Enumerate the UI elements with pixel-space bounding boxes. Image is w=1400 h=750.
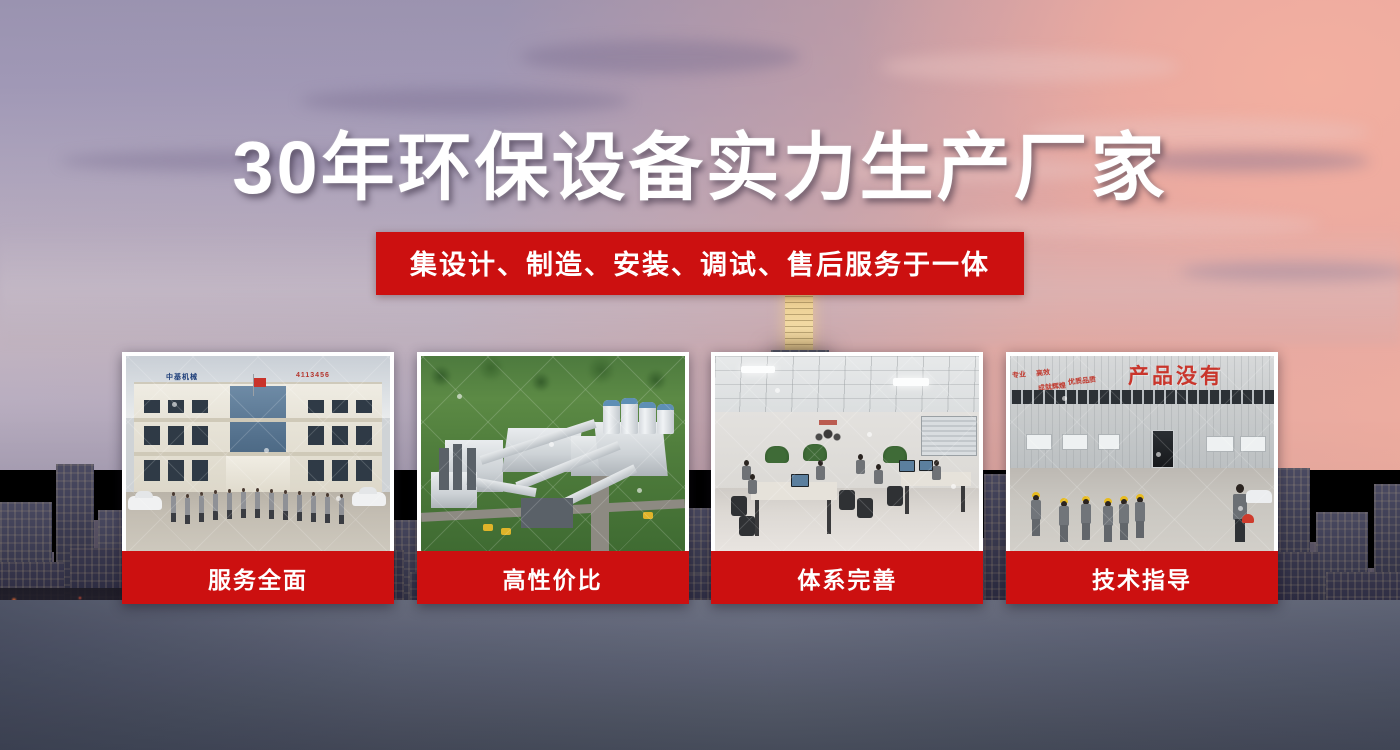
aerial-plant-photo bbox=[421, 356, 685, 551]
building-phone-text: 4113456 bbox=[296, 372, 330, 379]
wall-slogan: 专业 bbox=[1011, 369, 1026, 380]
card-caption: 技术指导 bbox=[1006, 551, 1278, 604]
building-sign-text: 中基机械 bbox=[166, 372, 198, 382]
workers-training-photo: 产品没有 专业 高效 优质品质 成就辉煌 bbox=[1010, 356, 1274, 551]
feature-card[interactable]: 产品没有 专业 高效 优质品质 成就辉煌 bbox=[1006, 352, 1278, 604]
card-caption: 服务全面 bbox=[122, 551, 394, 604]
feature-card[interactable]: 高性价比 bbox=[417, 352, 689, 604]
company-building-photo: 中基机械 4113456 bbox=[126, 356, 390, 551]
page-title: 30年环保设备实力生产厂家 bbox=[0, 131, 1400, 205]
banner-stage: 30年环保设备实力生产厂家 集设计、制造、安装、调试、售后服务于一体 中基机械 … bbox=[0, 0, 1400, 750]
feature-card[interactable]: 中基机械 4113456 bbox=[122, 352, 394, 604]
wall-slogan: 高效 bbox=[1035, 367, 1050, 378]
card-caption: 体系完善 bbox=[711, 551, 983, 604]
factory-wall-text: 产品没有 bbox=[1128, 360, 1224, 390]
feature-card[interactable]: 体系完善 bbox=[711, 352, 983, 604]
subtitle-banner: 集设计、制造、安装、调试、售后服务于一体 bbox=[376, 232, 1024, 295]
office-interior-photo bbox=[715, 356, 979, 551]
banner-content: 30年环保设备实力生产厂家 集设计、制造、安装、调试、售后服务于一体 中基机械 … bbox=[0, 0, 1400, 750]
card-caption: 高性价比 bbox=[417, 551, 689, 604]
feature-card-list: 中基机械 4113456 bbox=[122, 352, 1278, 604]
